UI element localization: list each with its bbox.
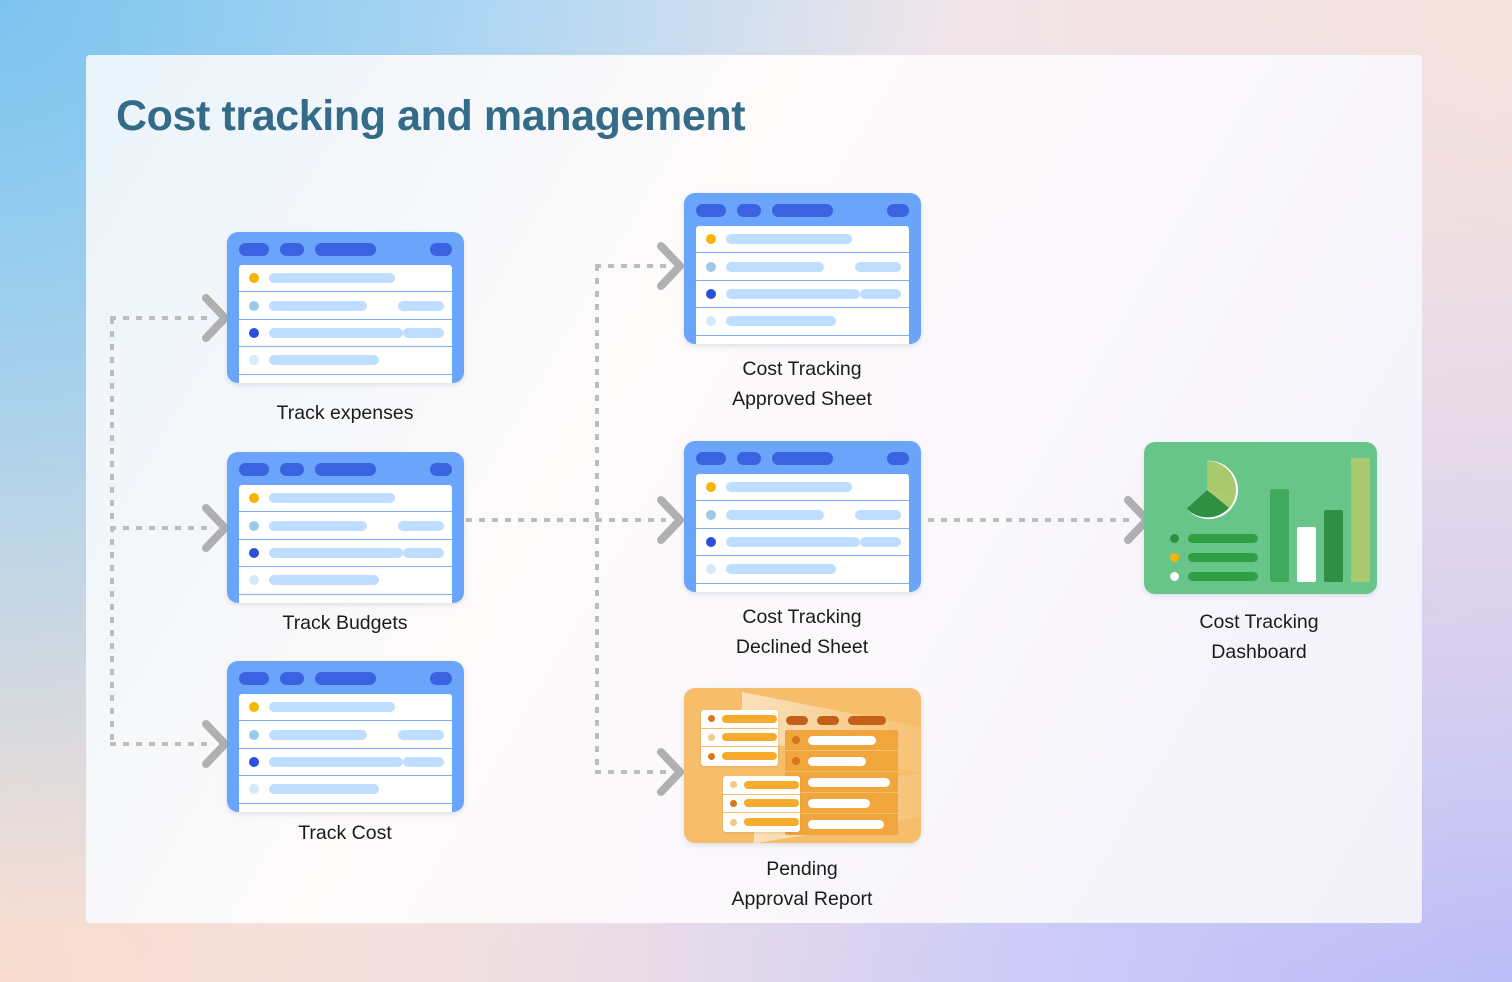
label-line-2: Approved Sheet xyxy=(732,384,872,414)
table-row xyxy=(696,226,909,253)
row-status-dot xyxy=(706,482,716,492)
row-bar xyxy=(744,818,799,826)
row-status-dot xyxy=(706,234,716,244)
row-bar xyxy=(722,752,777,760)
titlebar-chip xyxy=(315,243,376,256)
row-bar-tail xyxy=(860,289,901,299)
label-line-1: Pending xyxy=(732,854,873,884)
row-status-dot xyxy=(706,262,716,272)
connector-left-trunk xyxy=(110,318,114,746)
row-bar xyxy=(269,493,395,503)
titlebar-chip xyxy=(430,243,452,256)
card-titlebar xyxy=(239,672,452,685)
table-row xyxy=(696,474,909,501)
row-status-dot xyxy=(730,800,737,807)
sheet-card-body xyxy=(227,452,464,603)
report-mini-table xyxy=(723,776,800,832)
page-title: Cost tracking and management xyxy=(116,92,745,141)
table-row xyxy=(696,529,909,556)
titlebar-chip xyxy=(737,452,761,465)
label-line-2: Approval Report xyxy=(732,884,873,914)
connector-to-dashboard xyxy=(928,518,1133,522)
legend-bar xyxy=(1188,553,1258,562)
row-bar-tail xyxy=(398,730,444,740)
row-status-dot xyxy=(730,819,737,826)
row-status-dot xyxy=(706,564,716,574)
row-bar-tail xyxy=(855,262,901,272)
card-titlebar xyxy=(239,463,452,476)
node-declined-sheet[interactable] xyxy=(684,441,921,592)
titlebar-chip xyxy=(280,243,304,256)
row-status-dot xyxy=(249,730,259,740)
connector-budgets-out xyxy=(466,518,666,522)
node-label-track-cost: Track Cost xyxy=(298,818,392,848)
row-status-dot xyxy=(249,575,259,585)
sheet-rows xyxy=(696,226,909,344)
titlebar-chip xyxy=(315,672,376,685)
table-row xyxy=(239,595,452,603)
node-label-pending-report: Pending Approval Report xyxy=(732,854,873,914)
table-row xyxy=(239,749,452,776)
row-bar-tail xyxy=(398,301,444,311)
row-status-dot xyxy=(706,537,716,547)
titlebar-chip xyxy=(887,452,909,465)
table-row xyxy=(239,485,452,512)
row-status-dot xyxy=(730,781,737,788)
table-row xyxy=(239,804,452,812)
legend-row xyxy=(1170,553,1258,562)
row-bar xyxy=(269,784,379,794)
card-titlebar xyxy=(696,204,909,217)
dashboard-card-body xyxy=(1144,442,1377,594)
titlebar-chip xyxy=(239,672,269,685)
table-row xyxy=(239,721,452,748)
row-bar xyxy=(744,781,799,789)
card-titlebar xyxy=(239,243,452,256)
row-bar xyxy=(726,482,852,492)
table-row xyxy=(701,747,778,766)
titlebar-chip xyxy=(772,452,833,465)
table-row xyxy=(696,336,909,344)
row-bar xyxy=(269,548,403,558)
row-bar xyxy=(808,736,876,745)
table-row xyxy=(239,567,452,594)
bar-3 xyxy=(1324,510,1343,582)
table-row xyxy=(701,710,778,729)
titlebar-chip xyxy=(430,463,452,476)
row-status-dot xyxy=(706,510,716,520)
pie-chart-icon xyxy=(1176,459,1238,521)
row-status-dot xyxy=(249,355,259,365)
row-bar xyxy=(269,328,403,338)
row-bar xyxy=(808,778,890,787)
titlebar-chip xyxy=(696,204,726,217)
row-bar-tail xyxy=(403,328,444,338)
table-row xyxy=(239,347,452,374)
titlebar-chip xyxy=(280,463,304,476)
row-bar xyxy=(269,273,395,283)
row-status-dot xyxy=(249,784,259,794)
row-status-dot xyxy=(708,753,715,760)
node-label-approved-sheet: Cost Tracking Approved Sheet xyxy=(732,354,872,414)
header-chip xyxy=(817,716,839,725)
legend-row xyxy=(1170,572,1258,581)
row-bar xyxy=(726,234,852,244)
table-row xyxy=(785,793,898,814)
bar-4 xyxy=(1351,458,1370,582)
label-line-2: Declined Sheet xyxy=(736,632,868,662)
row-status-dot xyxy=(249,328,259,338)
legend-row xyxy=(1170,534,1258,543)
header-chip xyxy=(848,716,886,725)
row-status-dot xyxy=(708,715,715,722)
sheet-rows xyxy=(239,694,452,812)
row-bar xyxy=(722,715,777,723)
row-bar xyxy=(722,733,777,741)
row-status-dot xyxy=(249,493,259,503)
connector-to-track-cost xyxy=(110,742,210,746)
table-row xyxy=(785,772,898,793)
row-bar xyxy=(726,564,836,574)
node-label-track-expenses: Track expenses xyxy=(277,398,414,428)
sheet-card-body xyxy=(227,232,464,383)
row-bar-tail xyxy=(398,521,444,531)
sheet-card-body xyxy=(684,441,921,592)
row-bar xyxy=(744,799,799,807)
sheet-card-body xyxy=(227,661,464,812)
table-row xyxy=(696,308,909,335)
node-track-cost[interactable] xyxy=(227,661,464,812)
row-bar xyxy=(808,757,866,766)
row-status-dot xyxy=(706,289,716,299)
table-row xyxy=(696,584,909,592)
row-bar xyxy=(269,521,367,531)
row-bar xyxy=(269,702,395,712)
row-status-dot xyxy=(249,521,259,531)
table-row xyxy=(696,556,909,583)
node-cost-tracking-dashboard[interactable] xyxy=(1144,442,1377,594)
legend-dot xyxy=(1170,534,1179,543)
table-row xyxy=(723,795,800,814)
table-row xyxy=(239,540,452,567)
table-row xyxy=(696,281,909,308)
table-row xyxy=(696,253,909,280)
label-line-1: Cost Tracking xyxy=(736,602,868,632)
table-row xyxy=(239,375,452,383)
bar-2 xyxy=(1297,527,1316,582)
node-approved-sheet[interactable] xyxy=(684,193,921,344)
table-row xyxy=(239,776,452,803)
row-bar xyxy=(269,355,379,365)
titlebar-chip xyxy=(772,204,833,217)
row-bar xyxy=(726,510,824,520)
row-status-dot xyxy=(249,301,259,311)
row-status-dot xyxy=(706,316,716,326)
legend-dot xyxy=(1170,572,1179,581)
titlebar-chip xyxy=(737,204,761,217)
titlebar-chip xyxy=(239,463,269,476)
sheet-rows xyxy=(239,485,452,603)
row-bar xyxy=(269,730,367,740)
table-row xyxy=(239,320,452,347)
row-status-dot xyxy=(249,273,259,283)
row-bar xyxy=(726,262,824,272)
label-line-2: Dashboard xyxy=(1199,637,1318,667)
titlebar-chip xyxy=(239,243,269,256)
card-titlebar xyxy=(696,452,909,465)
connector-to-track-budgets xyxy=(110,526,210,530)
node-track-expenses[interactable] xyxy=(227,232,464,383)
report-mini-table xyxy=(701,710,778,766)
row-bar-tail xyxy=(860,537,901,547)
table-row xyxy=(785,814,898,835)
node-track-budgets[interactable] xyxy=(227,452,464,603)
sheet-card-body xyxy=(684,193,921,344)
node-label-track-budgets: Track Budgets xyxy=(283,608,408,638)
table-row xyxy=(723,813,800,832)
report-grid xyxy=(785,730,898,835)
table-row xyxy=(239,512,452,539)
table-row xyxy=(239,292,452,319)
label-line-1: Cost Tracking xyxy=(732,354,872,384)
row-bar xyxy=(726,289,860,299)
row-bar xyxy=(726,537,860,547)
table-row xyxy=(701,729,778,748)
row-status-dot xyxy=(792,757,800,765)
row-bar xyxy=(726,316,836,326)
legend-bar xyxy=(1188,572,1258,581)
titlebar-chip xyxy=(430,672,452,685)
row-status-dot xyxy=(708,734,715,741)
table-row xyxy=(785,730,898,751)
connector-to-track-expenses xyxy=(110,316,210,320)
label-line-1: Cost Tracking xyxy=(1199,607,1318,637)
row-status-dot xyxy=(249,757,259,767)
table-row xyxy=(696,501,909,528)
connector-middle-trunk xyxy=(595,265,599,772)
row-bar xyxy=(269,575,379,585)
legend-bar xyxy=(1188,534,1258,543)
titlebar-chip xyxy=(696,452,726,465)
row-status-dot xyxy=(792,736,800,744)
table-row xyxy=(239,694,452,721)
row-bar xyxy=(808,799,870,808)
row-status-dot xyxy=(249,548,259,558)
row-bar xyxy=(808,820,884,829)
titlebar-chip xyxy=(315,463,376,476)
sheet-rows xyxy=(239,265,452,383)
row-bar xyxy=(269,757,403,767)
titlebar-chip xyxy=(887,204,909,217)
row-status-dot xyxy=(249,702,259,712)
report-card-body xyxy=(684,688,921,843)
header-chip xyxy=(786,716,808,725)
bar-1 xyxy=(1270,489,1289,582)
table-row xyxy=(785,751,898,772)
row-bar-tail xyxy=(403,757,444,767)
sheet-rows xyxy=(696,474,909,592)
row-bar xyxy=(269,301,367,311)
node-label-dashboard: Cost Tracking Dashboard xyxy=(1199,607,1318,667)
table-row xyxy=(723,776,800,795)
row-bar-tail xyxy=(403,548,444,558)
row-bar-tail xyxy=(855,510,901,520)
legend-dot xyxy=(1170,553,1179,562)
node-pending-approval-report[interactable] xyxy=(684,688,921,843)
titlebar-chip xyxy=(280,672,304,685)
table-row xyxy=(239,265,452,292)
node-label-declined-sheet: Cost Tracking Declined Sheet xyxy=(736,602,868,662)
report-header-chips xyxy=(786,716,886,725)
